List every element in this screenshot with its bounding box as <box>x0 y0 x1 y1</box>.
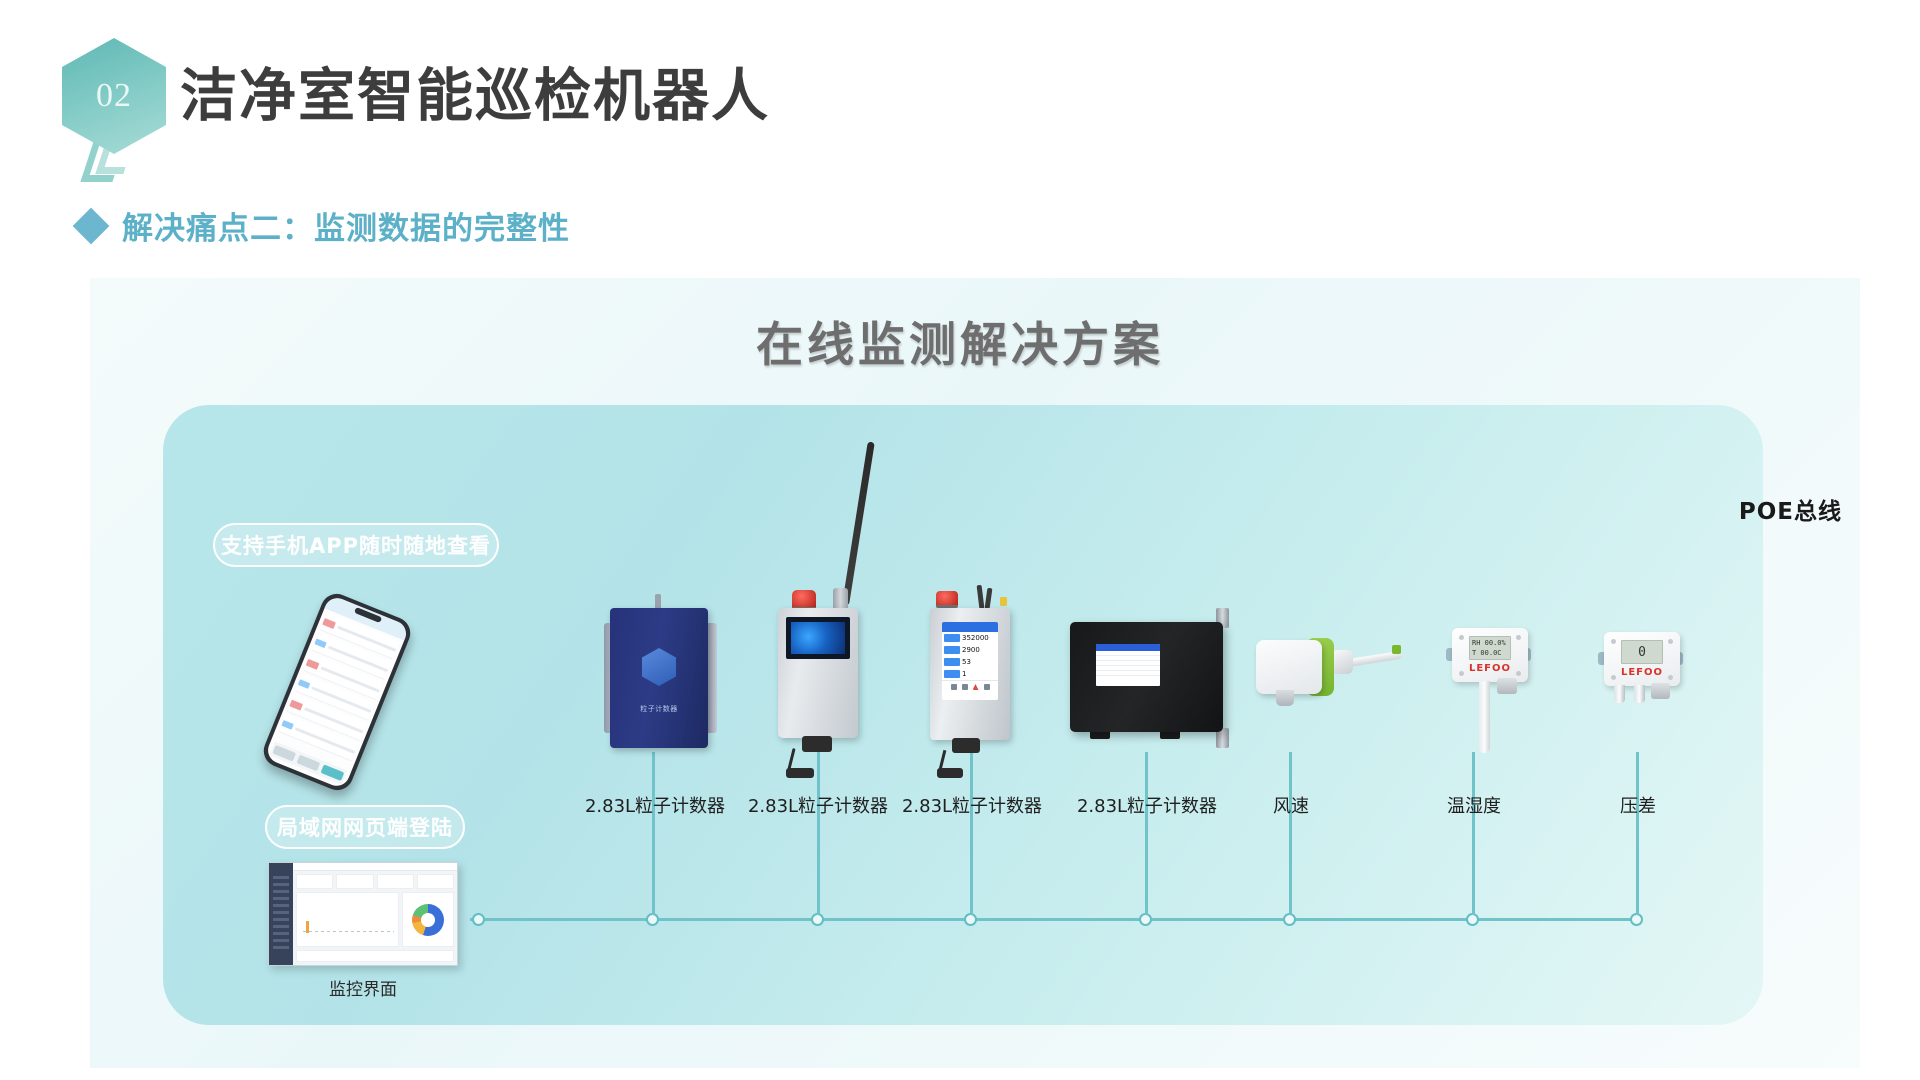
cable-connector <box>1651 683 1670 699</box>
row-tag <box>944 670 960 678</box>
device-label-counter-3: 2.83L粒子计数器 <box>902 792 1042 818</box>
sampling-port <box>952 738 980 753</box>
cable-connector <box>937 768 963 778</box>
panel-title-right: 解决方案 <box>960 318 1164 373</box>
device-lcd-screen: 352000 2900 53 1 <box>942 622 998 700</box>
cable-connector <box>786 768 814 778</box>
bus-drop-1 <box>652 752 655 915</box>
brand-label: LEFOO <box>1604 667 1680 678</box>
device-label-wind-speed: 风速 <box>1273 792 1309 818</box>
device-lcd-screen: 0 <box>1621 640 1663 664</box>
screen-icon-row <box>944 684 996 690</box>
dashboard-kpi-cards <box>296 874 454 889</box>
probe-tip-icon <box>1392 645 1401 654</box>
sensor-probe-stem <box>1479 681 1490 753</box>
screw-icon <box>1516 635 1521 640</box>
donut-ring <box>412 904 444 936</box>
device-body: 352000 2900 53 1 <box>930 608 1010 740</box>
device-body <box>1070 622 1223 732</box>
bus-drop-2 <box>817 752 820 915</box>
panel-title: 在线监测解决方案 <box>0 306 1920 375</box>
row-tag <box>944 634 960 642</box>
emergency-button-icon <box>936 591 958 608</box>
device-lcd-screen: RH 00.0% T 00.0C <box>1469 636 1511 660</box>
pill-web-login: 局域网网页端登陆 <box>265 805 465 849</box>
bus-drop-6 <box>1472 752 1475 915</box>
device-label-counter-1: 2.83L粒子计数器 <box>585 792 725 818</box>
screen-data-row: 53 <box>942 656 998 668</box>
device-model-text: 粒子计数器 <box>640 704 678 714</box>
dashboard-donut-chart <box>402 892 454 947</box>
dashboard-sidebar <box>269 863 293 965</box>
subheadline-text: 解决痛点二：监测数据的完整性 <box>122 203 570 248</box>
search-icon <box>951 684 957 690</box>
cable-connector <box>1497 678 1517 694</box>
pressure-port-high <box>1614 685 1625 703</box>
device-body: RH 00.0% T 00.0C LEFOO <box>1452 628 1528 682</box>
row-tag <box>944 646 960 654</box>
poe-bus-line <box>470 918 1636 921</box>
device-body <box>1256 640 1322 694</box>
phone-notch <box>354 607 382 623</box>
device-body <box>778 608 858 738</box>
dashboard-topbar <box>293 863 457 871</box>
slide-header: 02 洁净室智能巡检机器人 <box>0 0 1920 190</box>
network-icon <box>984 684 990 690</box>
device-label-counter-2: 2.83L粒子计数器 <box>748 792 888 818</box>
screw-icon <box>1611 639 1616 644</box>
antenna-base <box>833 588 848 610</box>
row-value: 352000 <box>962 634 989 642</box>
screw-icon <box>1459 635 1464 640</box>
status-led-icon <box>1000 597 1007 606</box>
panel-title-left: 在线监测 <box>756 318 960 373</box>
screen-data-row: 2900 <box>942 644 998 656</box>
row-value: 53 <box>962 658 971 666</box>
device-lcd-screen <box>1096 644 1160 686</box>
pressure-port-low <box>1634 685 1645 703</box>
dashboard-body <box>296 892 454 947</box>
bus-drop-4 <box>1145 752 1148 915</box>
device-body: 0 LEFOO <box>1604 632 1680 686</box>
badge-number: 02 <box>62 38 166 154</box>
diamond-icon <box>73 207 110 244</box>
emergency-button-icon <box>792 590 816 610</box>
sampling-port <box>802 736 832 752</box>
settings-icon <box>962 684 968 690</box>
screen-toolbar <box>942 680 998 700</box>
probe-joint <box>1331 650 1353 674</box>
cable-gland <box>1276 690 1294 706</box>
section-number-badge: 02 <box>62 38 166 154</box>
bus-drop-3 <box>970 752 973 915</box>
dashboard-line-chart <box>296 892 399 947</box>
row-tag <box>944 658 960 666</box>
dashboard-caption: 监控界面 <box>268 975 458 1000</box>
screw-icon <box>1668 639 1673 644</box>
subheadline: 解决痛点二：监测数据的完整性 <box>78 203 570 248</box>
table-row <box>1096 671 1160 676</box>
dashboard-screenshot <box>268 862 458 966</box>
row-value: 1 <box>962 670 966 678</box>
screen-data-row: 352000 <box>942 632 998 644</box>
bus-node-dashboard <box>472 913 485 926</box>
device-label-pressure-diff: 压差 <box>1620 792 1656 818</box>
dashboard-table-area <box>296 950 454 962</box>
bus-drop-5 <box>1289 752 1292 915</box>
device-label-temp-humidity: 温湿度 <box>1447 792 1501 818</box>
row-value: 2900 <box>962 646 980 654</box>
screen-header-bar <box>942 622 998 632</box>
pill-mobile-app: 支持手机APP随时随地查看 <box>213 523 499 567</box>
screen-data-row: 1 <box>942 668 998 680</box>
brand-hexagon-icon <box>642 648 676 686</box>
dashboard-main <box>293 863 457 965</box>
bus-drop-7 <box>1636 752 1639 915</box>
alarm-icon <box>973 684 979 690</box>
lcd-humidity-value: RH 00.0% <box>1472 638 1508 648</box>
table-header-row <box>1096 644 1160 651</box>
poe-bus-label: POE总线 <box>1739 492 1842 526</box>
lcd-temperature-value: T 00.0C <box>1472 648 1508 658</box>
brand-label: LEFOO <box>1452 663 1528 674</box>
page-title: 洁净室智能巡检机器人 <box>180 50 770 132</box>
device-lcd-screen <box>786 617 850 659</box>
device-body: 粒子计数器 <box>610 608 708 748</box>
device-label-counter-4: 2.83L粒子计数器 <box>1077 792 1217 818</box>
